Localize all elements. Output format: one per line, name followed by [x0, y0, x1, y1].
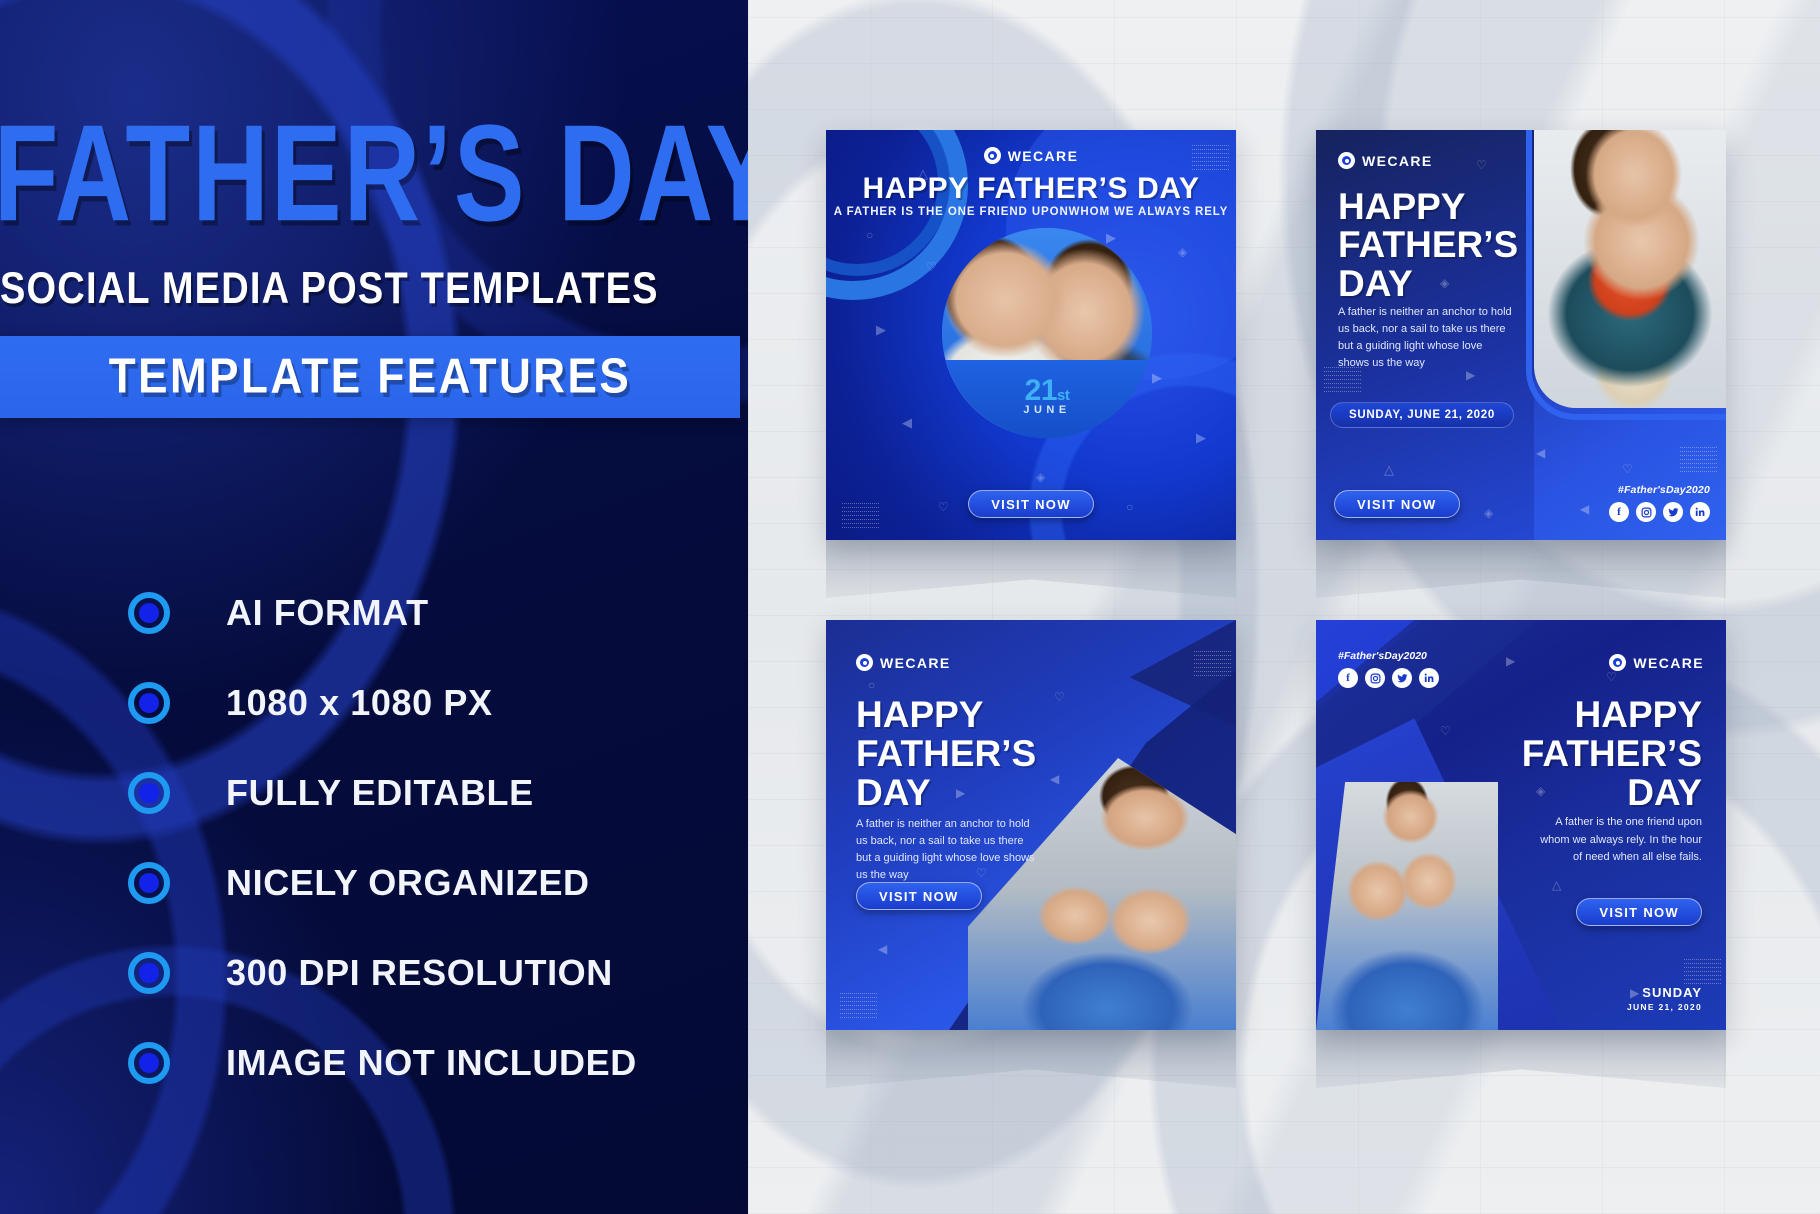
brand-logo: WECARE [1609, 654, 1704, 671]
list-item: FULLY EDITABLE [128, 748, 748, 838]
post-card-2[interactable]: ♡ ◈ ▶ △ ◀ ♡ ◀ ◈ WECARE HAPPY FATHER’S DA… [1316, 130, 1726, 540]
post-tagline: A FATHER IS THE ONE FRIEND UPONWHOM WE A… [826, 206, 1236, 218]
brand-name: WECARE [880, 655, 951, 671]
feature-label: AI FORMAT [226, 592, 429, 634]
bullet-target-icon [128, 1042, 170, 1084]
bullet-target-icon [128, 862, 170, 904]
visit-now-button[interactable]: VISIT NOW [1576, 898, 1702, 926]
list-item: IMAGE NOT INCLUDED [128, 1018, 748, 1108]
post-headline: HAPPY FATHER’S DAY [1338, 188, 1528, 303]
feature-list: AI FORMAT 1080 x 1080 PX FULLY EDITABLE … [128, 568, 748, 1108]
headline-line-2: FATHER’S [1492, 735, 1702, 774]
social-links: f [1609, 502, 1710, 522]
list-item: NICELY ORGANIZED [128, 838, 748, 928]
visit-now-button[interactable]: VISIT NOW [856, 882, 982, 910]
visit-now-cta-wrap: VISIT NOW [826, 490, 1236, 518]
headline-line-1: HAPPY [1338, 188, 1528, 226]
triangle-left-icon: ◀ [902, 415, 912, 431]
heart-outline-icon: ♡ [1606, 670, 1617, 684]
feature-label: FULLY EDITABLE [226, 772, 534, 814]
post-headline: HAPPY FATHER’S DAY [826, 172, 1236, 206]
feature-label: NICELY ORGANIZED [226, 862, 590, 904]
post-headline: HAPPY FATHER’S DAY [1492, 696, 1702, 813]
wave-pattern-icon [1684, 958, 1722, 984]
photo-circle: 21st JUNE [942, 228, 1152, 438]
linkedin-icon[interactable] [1419, 668, 1439, 688]
bullet-target-icon [128, 682, 170, 724]
triangle-outline-icon: △ [1552, 878, 1561, 892]
social-block: #Father'sDay2020 f [1338, 650, 1439, 688]
wecare-logo-icon [984, 147, 1001, 164]
date-number: 21 [1025, 374, 1057, 407]
wecare-logo-icon [856, 654, 873, 671]
bullet-target-icon [128, 772, 170, 814]
brand-name: WECARE [1008, 148, 1079, 164]
post-card-1[interactable]: △ ○ ♡ ▶ ◀ ♡ ▶ ▶ ▶ ◈ ◈ ○ WECARE HAPPY FAT… [826, 130, 1236, 540]
headline-line-3: DAY [1492, 774, 1702, 813]
post-body-text: A father is the one friend upon whom we … [1534, 814, 1702, 867]
instagram-icon[interactable] [1636, 502, 1656, 522]
feature-label: 300 DPI RESOLUTION [226, 952, 613, 994]
post-card-3[interactable]: ○ ♡ ◀ ▶ ♡ ◀ WECARE HAPPY FATHER’S DAY A … [826, 620, 1236, 1030]
date-suffix: st [1057, 387, 1069, 404]
visit-now-cta-wrap: VISIT NOW [856, 882, 982, 910]
heart-outline-icon: ♡ [1622, 462, 1633, 476]
social-block: #Father'sDay2020 f [1609, 484, 1710, 522]
wave-pattern-icon [1680, 446, 1718, 472]
brand-logo: WECARE [826, 147, 1236, 164]
post-body-text: A father is neither an anchor to hold us… [856, 816, 1036, 884]
circle-outline-icon: ○ [868, 678, 875, 692]
social-links: f [1338, 668, 1439, 688]
wave-pattern-icon [840, 992, 878, 1018]
triangle-left-icon: ◀ [1536, 446, 1545, 460]
event-date: 21st JUNE [942, 374, 1152, 416]
linkedin-icon[interactable] [1690, 502, 1710, 522]
date-month: JUNE [942, 404, 1152, 416]
page-subtitle: SOCIAL MEDIA POST TEMPLATES [0, 264, 640, 315]
post-card-4[interactable]: ▶ ♡ ♡ ◈ △ ▶ WECARE #Father'sDay2020 f [1316, 620, 1726, 1030]
headline-line-1: HAPPY [856, 696, 1056, 735]
twitter-icon[interactable] [1663, 502, 1683, 522]
list-item: 1080 x 1080 PX [128, 658, 748, 748]
list-item: 300 DPI RESOLUTION [128, 928, 748, 1018]
hashtag-label: #Father'sDay2020 [1609, 484, 1710, 496]
page-title: FATHER’S DAY [0, 112, 646, 238]
facebook-icon[interactable]: f [1338, 668, 1358, 688]
family-photo [1316, 782, 1498, 1030]
headline-line-2: FATHER’S [856, 735, 1056, 774]
bullet-target-icon [128, 952, 170, 994]
visit-now-cta-wrap: VISIT NOW [1334, 490, 1460, 518]
headline-line-1: HAPPY [1492, 696, 1702, 735]
post-body-text: A father is neither an anchor to hold us… [1338, 304, 1516, 372]
triangle-left-icon: ◀ [878, 942, 887, 956]
brand-name: WECARE [1362, 153, 1433, 169]
date-full: JUNE 21, 2020 [1627, 1002, 1702, 1012]
template-features-label: TEMPLATE FEATURES [109, 349, 631, 405]
facebook-icon[interactable]: f [1609, 502, 1629, 522]
feature-label: 1080 x 1080 PX [226, 682, 493, 724]
poster-stage: FATHER’S DAY SOCIAL MEDIA POST TEMPLATES… [0, 0, 1820, 1214]
headline-line-3: DAY [1338, 265, 1528, 303]
wecare-logo-icon [1609, 654, 1626, 671]
triangle-left-icon: ◀ [1580, 502, 1589, 516]
brand-name: WECARE [1633, 655, 1704, 671]
hashtag-label: #Father'sDay2020 [1338, 650, 1439, 662]
family-photo [1534, 130, 1726, 408]
template-features-banner: TEMPLATE FEATURES [0, 336, 740, 418]
title-block: FATHER’S DAY SOCIAL MEDIA POST TEMPLATES [0, 112, 748, 307]
visit-now-cta-wrap: VISIT NOW [1576, 898, 1702, 926]
date-day: SUNDAY [1627, 985, 1702, 1000]
instagram-icon[interactable] [1365, 668, 1385, 688]
post-headline: HAPPY FATHER’S DAY [856, 696, 1056, 813]
triangle-right-icon: ▶ [876, 322, 886, 338]
wecare-logo-icon [1338, 152, 1355, 169]
triangle-right-icon: ▶ [1506, 654, 1515, 668]
date-badge: SUNDAY, JUNE 21, 2020 [1330, 402, 1514, 428]
visit-now-button[interactable]: VISIT NOW [968, 490, 1094, 518]
left-info-panel: FATHER’S DAY SOCIAL MEDIA POST TEMPLATES… [0, 0, 748, 1214]
twitter-icon[interactable] [1392, 668, 1412, 688]
brand-logo: WECARE [856, 654, 951, 671]
heart-outline-icon: ♡ [1440, 724, 1451, 738]
brand-logo: WECARE [1338, 152, 1433, 169]
event-date: SUNDAY JUNE 21, 2020 [1627, 985, 1702, 1012]
visit-now-button[interactable]: VISIT NOW [1334, 490, 1460, 518]
list-item: AI FORMAT [128, 568, 748, 658]
headline-line-3: DAY [856, 774, 1056, 813]
bullet-target-icon [128, 592, 170, 634]
feature-label: IMAGE NOT INCLUDED [226, 1042, 637, 1084]
headline-line-2: FATHER’S [1338, 226, 1528, 264]
